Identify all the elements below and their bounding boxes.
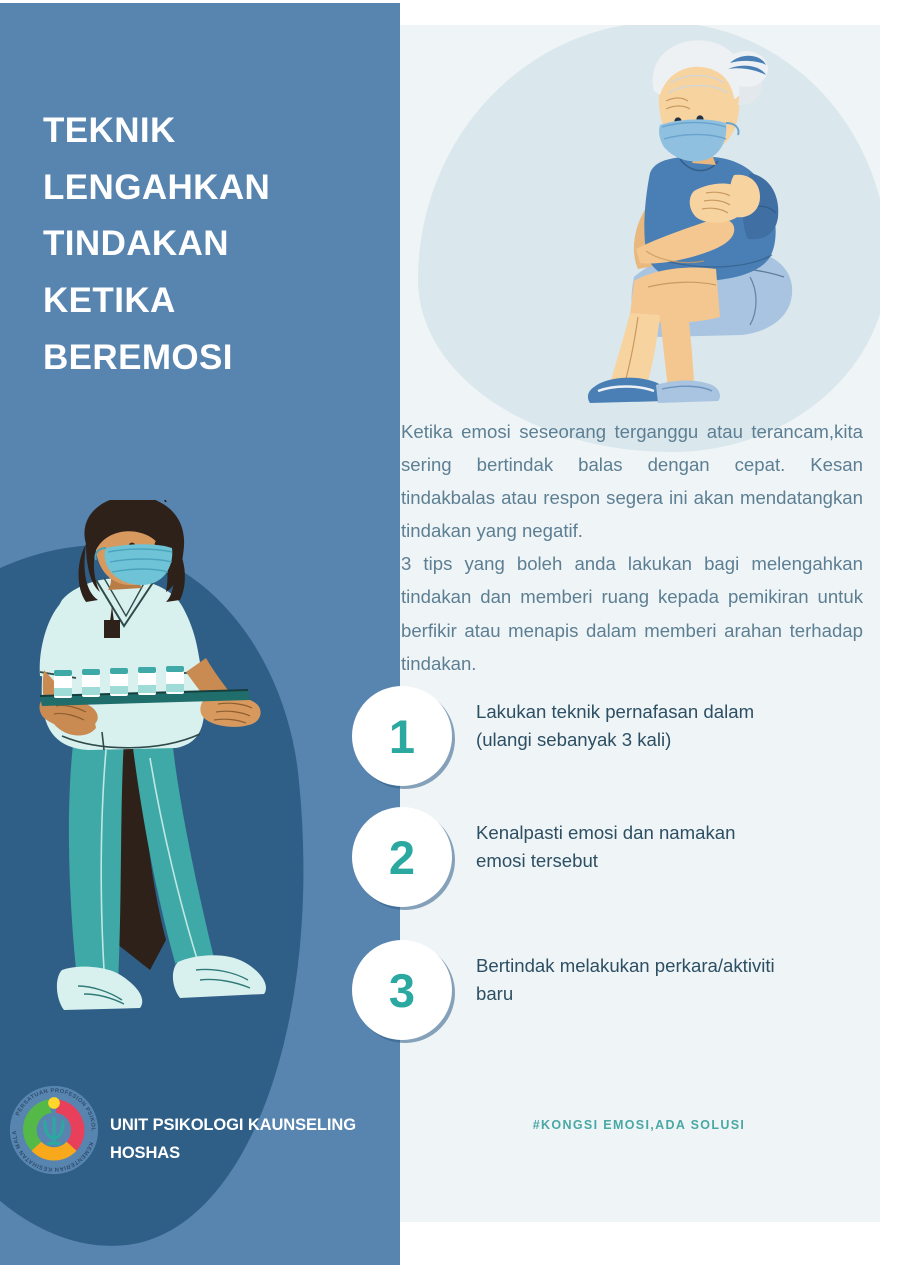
tip-number-circle-1: 1 — [352, 686, 452, 786]
body-paragraph-1: Ketika emosi seseorang terganggu atau te… — [401, 415, 863, 547]
page-title: TEKNIK LENGAHKAN TINDAKAN KETIKA BEREMOS… — [43, 103, 373, 386]
organization-name: UNIT PSIKOLOGI KAUNSELING HOSHAS — [110, 1111, 390, 1167]
title-line-1: TEKNIK — [43, 103, 373, 160]
tip-number-circle-3: 3 — [352, 940, 452, 1040]
tip-1-line-1: Lakukan teknik pernafasan dalam — [476, 698, 871, 726]
tip-text-3: Bertindak melakukan perkara/aktiviti bar… — [476, 952, 871, 1009]
tip-number-circle-2: 2 — [352, 807, 452, 907]
tip-3-line-1: Bertindak melakukan perkara/aktiviti — [476, 952, 871, 980]
body-paragraph-2: 3 tips yang boleh anda lakukan bagi mele… — [401, 547, 863, 679]
tip-item-1: 1 Lakukan teknik pernafasan dalam (ulang… — [0, 686, 905, 807]
tip-number-2: 2 — [389, 834, 415, 881]
poster-canvas: Ketika emosi seseorang terganggu atau te… — [0, 0, 905, 1280]
tip-item-3: 3 Bertindak melakukan perkara/aktiviti b… — [0, 940, 905, 1073]
tip-number-3: 3 — [389, 967, 415, 1014]
tip-text-2: Kenalpasti emosi dan namakan emosi terse… — [476, 819, 871, 876]
tip-2-line-2: emosi tersebut — [476, 847, 871, 875]
title-line-2: LENGAHKAN — [43, 160, 373, 217]
organization-logo-icon: PERSATUAN PROFESION PSIKOLOGI KEMENTERIA… — [9, 1085, 99, 1175]
tip-item-2: 2 Kenalpasti emosi dan namakan emosi ter… — [0, 807, 905, 940]
left-blue-panel: TEKNIK LENGAHKAN TINDAKAN KETIKA BEREMOS… — [0, 3, 400, 1265]
tip-text-1: Lakukan teknik pernafasan dalam (ulangi … — [476, 698, 871, 755]
body-text-block: Ketika emosi seseorang terganggu atau te… — [401, 415, 863, 680]
elderly-woman-illustration — [398, 25, 880, 425]
title-line-4: KETIKA — [43, 273, 373, 330]
organization-line-1: UNIT PSIKOLOGI KAUNSELING — [110, 1111, 390, 1139]
tips-list: 1 Lakukan teknik pernafasan dalam (ulang… — [0, 686, 905, 1073]
title-line-5: BEREMOSI — [43, 330, 373, 387]
title-line-3: TINDAKAN — [43, 216, 373, 273]
organization-line-2: HOSHAS — [110, 1139, 390, 1167]
tip-2-line-1: Kenalpasti emosi dan namakan — [476, 819, 871, 847]
tip-3-line-2: baru — [476, 980, 871, 1008]
hashtag-tagline: #KONGSI EMOSI,ADA SOLUSI — [398, 1118, 880, 1132]
tip-1-line-2: (ulangi sebanyak 3 kali) — [476, 726, 871, 754]
tip-number-1: 1 — [389, 713, 415, 760]
